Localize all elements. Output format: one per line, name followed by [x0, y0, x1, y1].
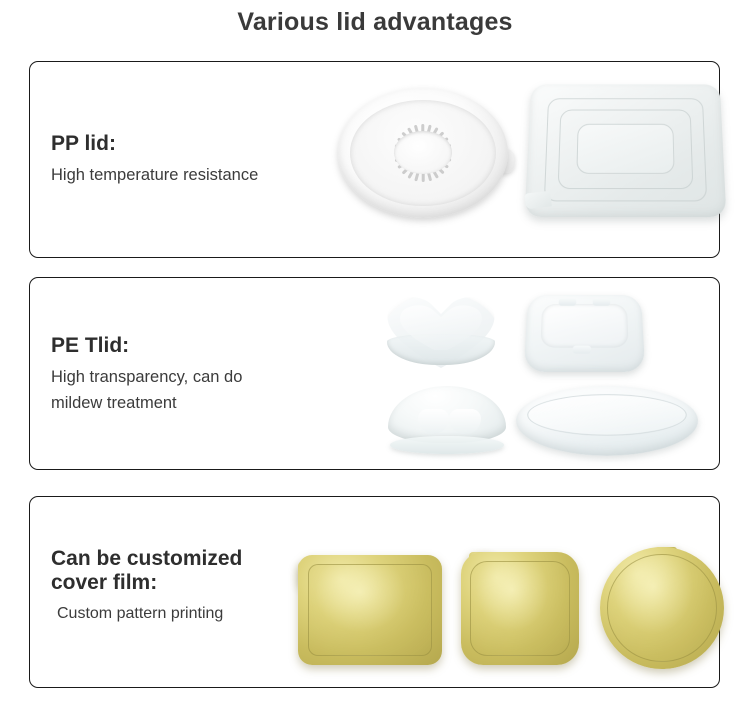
lid-notch [558, 299, 576, 306]
gold-square-foil-lid-image [461, 552, 579, 665]
card-film-description: Custom pattern printing [51, 602, 242, 627]
lid-inner-panel [470, 561, 569, 656]
gold-round-foil-lid-image [600, 547, 724, 669]
card-pp-product-images [310, 62, 719, 257]
card-film-heading: Can be customized cover film: [51, 547, 242, 595]
lid-rib [576, 124, 675, 174]
dome-pet-lid-image [388, 386, 506, 454]
card-pet-description: High transparency, can do mildew treatme… [51, 365, 242, 416]
card-pet-product-images [310, 278, 719, 469]
rectangular-pp-lid-image [528, 81, 723, 216]
card-pp-text-block: PP lid: High temperature resistance [51, 132, 258, 189]
lid-body [514, 386, 700, 456]
card-pp-heading: PP lid: [51, 132, 258, 156]
lid-facet [418, 409, 450, 434]
round-ribbed-pp-lid-image [338, 88, 508, 218]
card-custom-cover-film: Can be customized cover film: Custom pat… [29, 496, 720, 688]
lid-corner-flap [524, 191, 552, 210]
lid-body [388, 386, 506, 443]
lid-rim [390, 436, 503, 454]
lid-rim-ring [526, 394, 688, 436]
card-pet-heading: PE Tlid: [51, 334, 242, 358]
square-pet-lid-image [526, 292, 643, 372]
card-film-text-block: Can be customized cover film: Custom pat… [51, 547, 242, 627]
card-pet-lid: PE Tlid: High transparency, can do milde… [29, 277, 720, 470]
page-title: Various lid advantages [0, 8, 750, 37]
lid-body [525, 84, 727, 217]
card-film-product-images [310, 497, 719, 687]
heart-shaped-pet-lid-image [382, 294, 500, 370]
card-pp-lid: PP lid: High temperature resistance [29, 61, 720, 258]
gold-rectangular-foil-lid-image [298, 555, 442, 665]
lid-top-panel [541, 304, 629, 348]
lid-notch [573, 346, 591, 354]
card-pet-text-block: PE Tlid: High transparency, can do milde… [51, 334, 242, 416]
lid-notch [592, 299, 610, 306]
oval-pet-lid-image [516, 384, 698, 456]
lid-center-disc [394, 131, 452, 174]
card-pp-description: High temperature resistance [51, 163, 258, 189]
lid-inner-panel [607, 554, 716, 661]
lid-facet [449, 409, 481, 434]
lid-inner-panel [308, 564, 432, 656]
lid-body [524, 295, 645, 372]
